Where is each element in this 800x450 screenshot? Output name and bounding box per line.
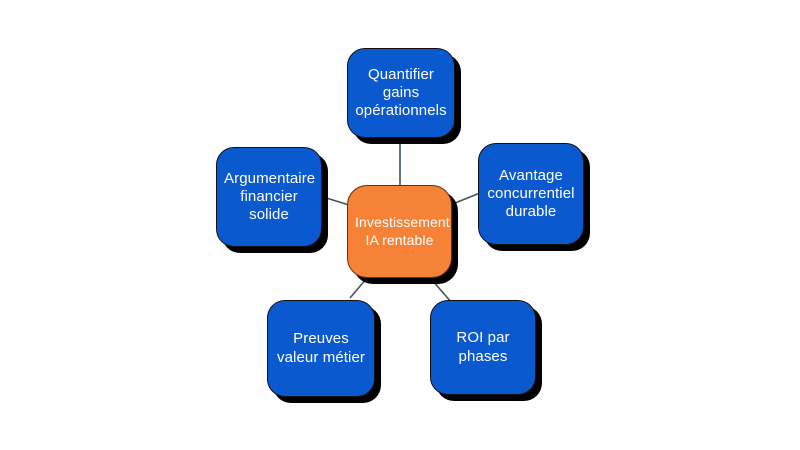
node-argumentaire-financier-solide[interactable]: Argumentaire financier solide: [216, 147, 322, 247]
connector-center-to-top-left: [320, 196, 349, 205]
node-preuves-valeur-metier[interactable]: Preuves valeur métier: [267, 300, 375, 397]
node-avantage-concurrentiel-durable[interactable]: Avantage concurrentiel durable: [478, 143, 584, 245]
diagram-canvas: Quantifier gains opérationnels Avantage …: [0, 0, 800, 450]
node-label: Investissement IA rentable: [355, 214, 444, 248]
node-label: Preuves valeur métier: [275, 330, 367, 367]
node-label: ROI par phases: [438, 329, 528, 366]
node-roi-par-phases[interactable]: ROI par phases: [430, 300, 536, 395]
node-quantifier-gains-operationnels[interactable]: Quantifier gains opérationnels: [347, 48, 455, 138]
node-label: Quantifier gains opérationnels: [355, 66, 447, 121]
node-label: Argumentaire financier solide: [224, 170, 314, 225]
connector-center-to-top-right: [450, 193, 480, 205]
node-label: Avantage concurrentiel durable: [486, 167, 576, 222]
node-center-investissement-ia-rentable[interactable]: Investissement IA rentable: [347, 185, 452, 278]
